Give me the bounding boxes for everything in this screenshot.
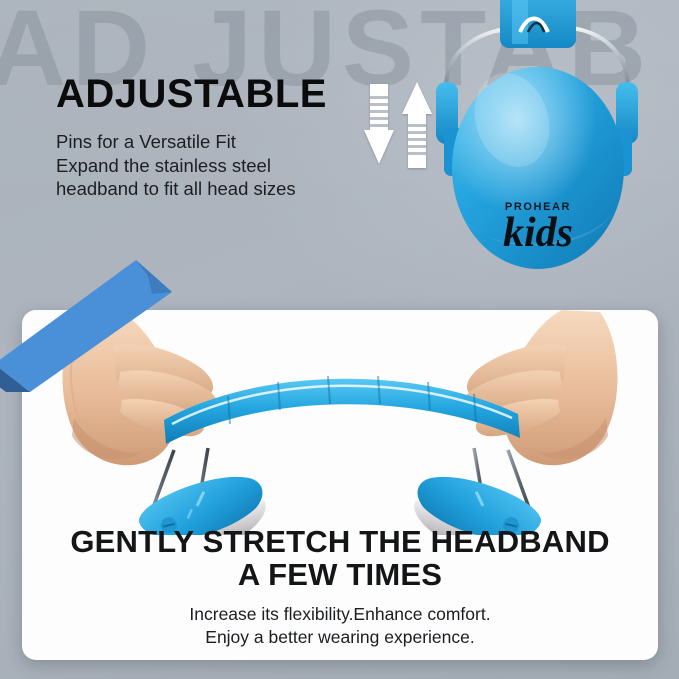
card-headline: GENTLY STRETCH THE HEADBAND A FEW TIMES [22, 526, 658, 592]
product-image: PROHEAR kids [416, 0, 679, 288]
ribbon-bottom-right [423, 658, 658, 660]
ribbon-top-left [0, 252, 196, 392]
card-subtext: Increase its flexibility.Enhance comfort… [22, 603, 658, 649]
feature-description: Pins for a Versatile Fit Expand the stai… [56, 130, 296, 201]
product-subbrand-text: kids [503, 210, 573, 256]
page-title: ADJUSTABLE [56, 74, 327, 114]
